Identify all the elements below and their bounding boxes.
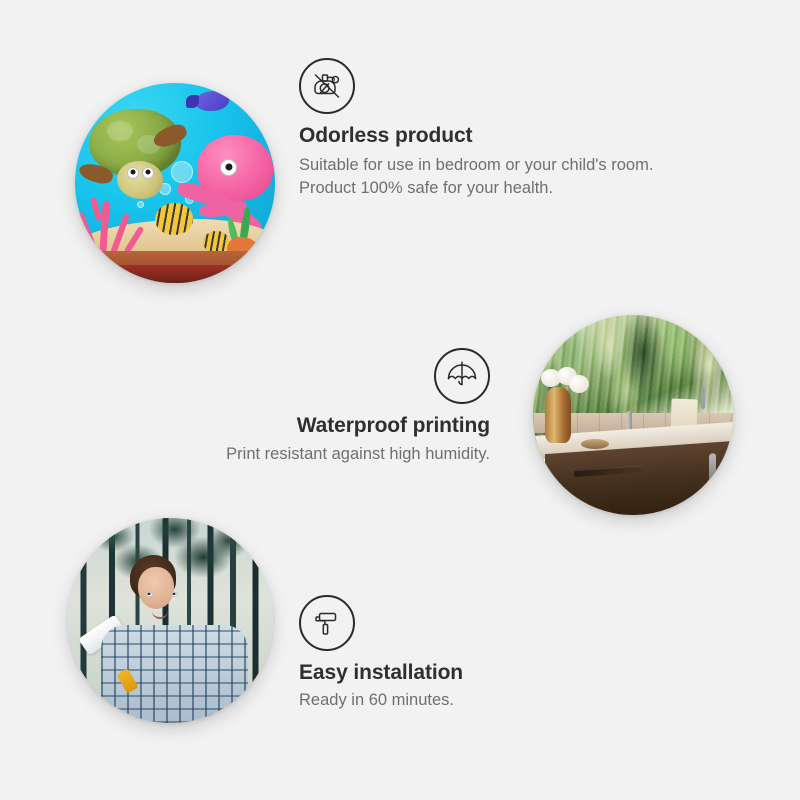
woman-eye — [146, 592, 153, 597]
feature-title: Odorless product — [299, 124, 679, 148]
feature-title: Easy installation — [299, 661, 639, 685]
octopus-eye — [220, 159, 237, 176]
paint-roller-icon — [299, 595, 355, 651]
pink-coral — [75, 195, 151, 259]
photo-forest — [68, 518, 273, 723]
turtle-eye — [127, 167, 139, 179]
wood-vanity-cabinet — [545, 440, 733, 515]
yellow-striped-fish — [155, 203, 193, 235]
photo-underwater — [75, 83, 275, 283]
yellow-striped-fish — [203, 231, 229, 253]
no-odor-perfume-icon — [299, 58, 355, 114]
feature-title: Waterproof printing — [120, 414, 490, 438]
feature-description: Ready in 60 minutes. — [299, 689, 639, 712]
feature-collage: Odorless product Suitable for use in bed… — [0, 0, 800, 800]
sea-turtle-head — [117, 161, 163, 199]
photo-bathroom — [533, 315, 733, 515]
gold-vase — [545, 387, 571, 443]
feature-description: Print resistant against high humidity. — [120, 443, 490, 466]
soap-dispenser — [701, 387, 705, 409]
bubble-icon — [171, 161, 193, 183]
woman-face — [138, 567, 174, 609]
sea-bed-shadow — [75, 265, 275, 283]
soap-dish — [581, 439, 609, 449]
feature-easy-installation: Easy installation Ready in 60 minutes. — [299, 595, 639, 712]
woman-eye — [171, 592, 178, 597]
feature-description: Suitable for use in bedroom or your chil… — [299, 154, 665, 200]
feature-odorless: Odorless product Suitable for use in bed… — [299, 58, 679, 200]
turtle-eye — [142, 167, 154, 179]
umbrella-icon — [434, 348, 490, 404]
feature-waterproof: Waterproof printing Print resistant agai… — [120, 348, 490, 466]
